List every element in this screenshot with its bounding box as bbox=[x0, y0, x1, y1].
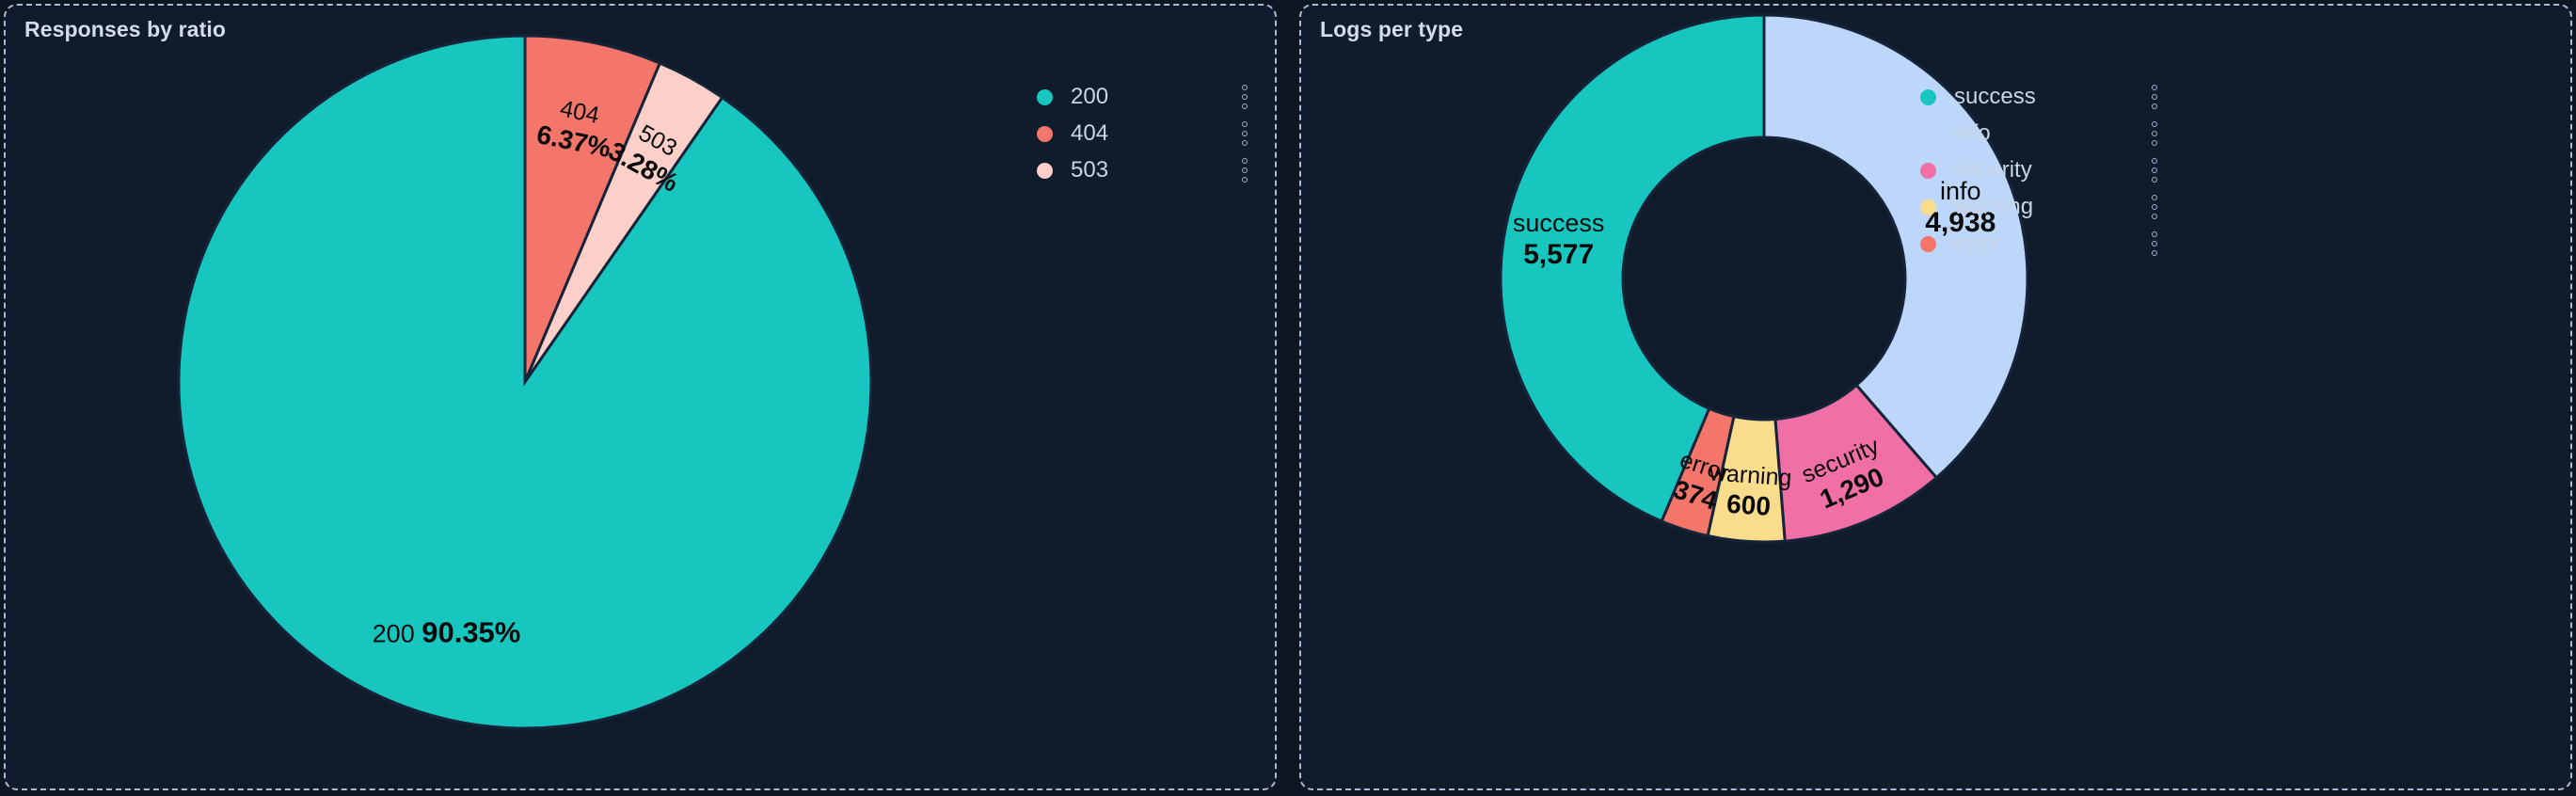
svg-text:200 90.35%: 200 90.35% bbox=[373, 616, 521, 649]
legend-label-503: 503 bbox=[1071, 157, 1216, 183]
legend-label-success: success bbox=[1954, 84, 2125, 110]
kebab-menu-icon[interactable] bbox=[1232, 121, 1257, 146]
legend-item-security[interactable]: security bbox=[1920, 152, 2167, 188]
legend-item-success[interactable]: success bbox=[1920, 79, 2167, 115]
dashboard-board: Responses by ratio 4046.37%5033.28%200 9… bbox=[0, 0, 2576, 796]
kebab-menu-icon[interactable] bbox=[1232, 158, 1257, 183]
legend-item-warning[interactable]: warning bbox=[1920, 189, 2167, 225]
legend-color-swatch-security bbox=[1920, 163, 1936, 179]
legend-logs: success info security warning bbox=[1920, 79, 2167, 262]
kebab-menu-icon[interactable] bbox=[2142, 121, 2167, 146]
legend-label-security: security bbox=[1954, 157, 2125, 183]
kebab-menu-icon[interactable] bbox=[2142, 195, 2167, 219]
legend-item-error[interactable]: error bbox=[1920, 226, 2167, 262]
svg-text:600: 600 bbox=[1725, 489, 1772, 521]
legend-color-swatch-warning bbox=[1920, 199, 1936, 215]
panel-body-logs: info4,938security1,290warning600error374… bbox=[1301, 6, 2570, 788]
legend-color-swatch-error bbox=[1920, 236, 1936, 252]
svg-text:success: success bbox=[1513, 209, 1605, 237]
legend-label-info: info bbox=[1954, 120, 2125, 147]
panel-logs-per-type: Logs per type info4,938security1,290warn… bbox=[1299, 4, 2572, 790]
panel-responses-by-ratio: Responses by ratio 4046.37%5033.28%200 9… bbox=[4, 4, 1277, 790]
legend-label-200: 200 bbox=[1071, 84, 1216, 110]
legend-color-swatch-503 bbox=[1037, 163, 1053, 179]
legend-color-swatch-success bbox=[1920, 89, 1936, 105]
legend-item-404[interactable]: 404 bbox=[1037, 116, 1257, 151]
legend-color-swatch-info bbox=[1920, 126, 1936, 142]
kebab-menu-icon[interactable] bbox=[2142, 85, 2167, 109]
legend-color-swatch-200 bbox=[1037, 89, 1053, 105]
legend-item-503[interactable]: 503 bbox=[1037, 152, 1257, 188]
panel-body-responses: 4046.37%5033.28%200 90.35% 200 404 503 bbox=[6, 6, 1275, 788]
kebab-menu-icon[interactable] bbox=[1232, 85, 1257, 109]
slices-group bbox=[179, 36, 871, 728]
slice-label-200: 200 90.35% bbox=[373, 616, 521, 649]
slice-label-success: success5,577 bbox=[1513, 209, 1605, 270]
legend-item-200[interactable]: 200 bbox=[1037, 79, 1257, 115]
legend-responses: 200 404 503 bbox=[1037, 79, 1257, 188]
pie-slice-200[interactable] bbox=[179, 36, 871, 728]
legend-item-info[interactable]: info bbox=[1920, 116, 2167, 151]
kebab-menu-icon[interactable] bbox=[2142, 158, 2167, 183]
legend-label-404: 404 bbox=[1071, 120, 1216, 147]
svg-text:5,577: 5,577 bbox=[1523, 239, 1594, 270]
legend-label-warning: warning bbox=[1954, 194, 2125, 220]
legend-label-error: error bbox=[1954, 231, 2125, 257]
legend-color-swatch-404 bbox=[1037, 126, 1053, 142]
kebab-menu-icon[interactable] bbox=[2142, 231, 2167, 256]
